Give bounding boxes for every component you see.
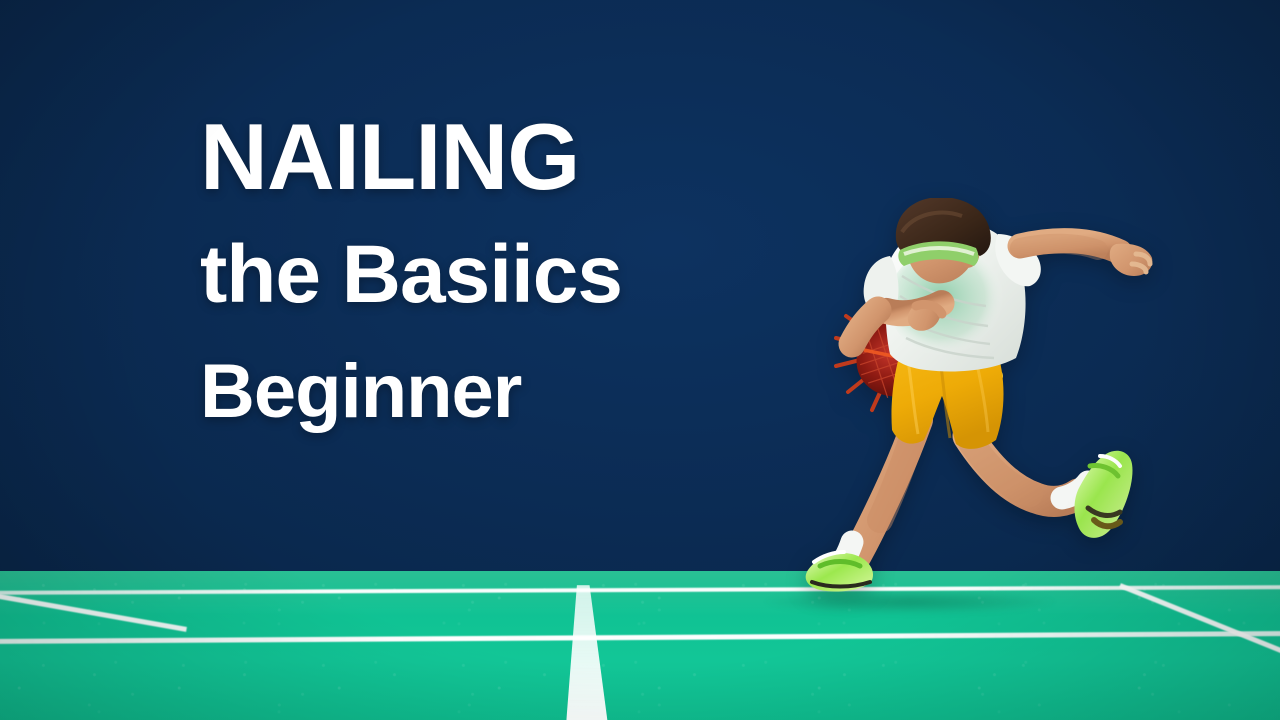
headline-line-3: Beginner bbox=[200, 354, 840, 430]
headline-line-2: the Basiics bbox=[200, 234, 840, 316]
headline-line-1: NAILING bbox=[200, 110, 840, 204]
right-shoe bbox=[1074, 451, 1132, 538]
thumbnail-canvas: NAILING the Basiics Beginner bbox=[0, 0, 1280, 720]
right-hand bbox=[1110, 244, 1153, 276]
badminton-player-figure bbox=[790, 198, 1160, 598]
headline-block: NAILING the Basiics Beginner bbox=[200, 110, 840, 430]
